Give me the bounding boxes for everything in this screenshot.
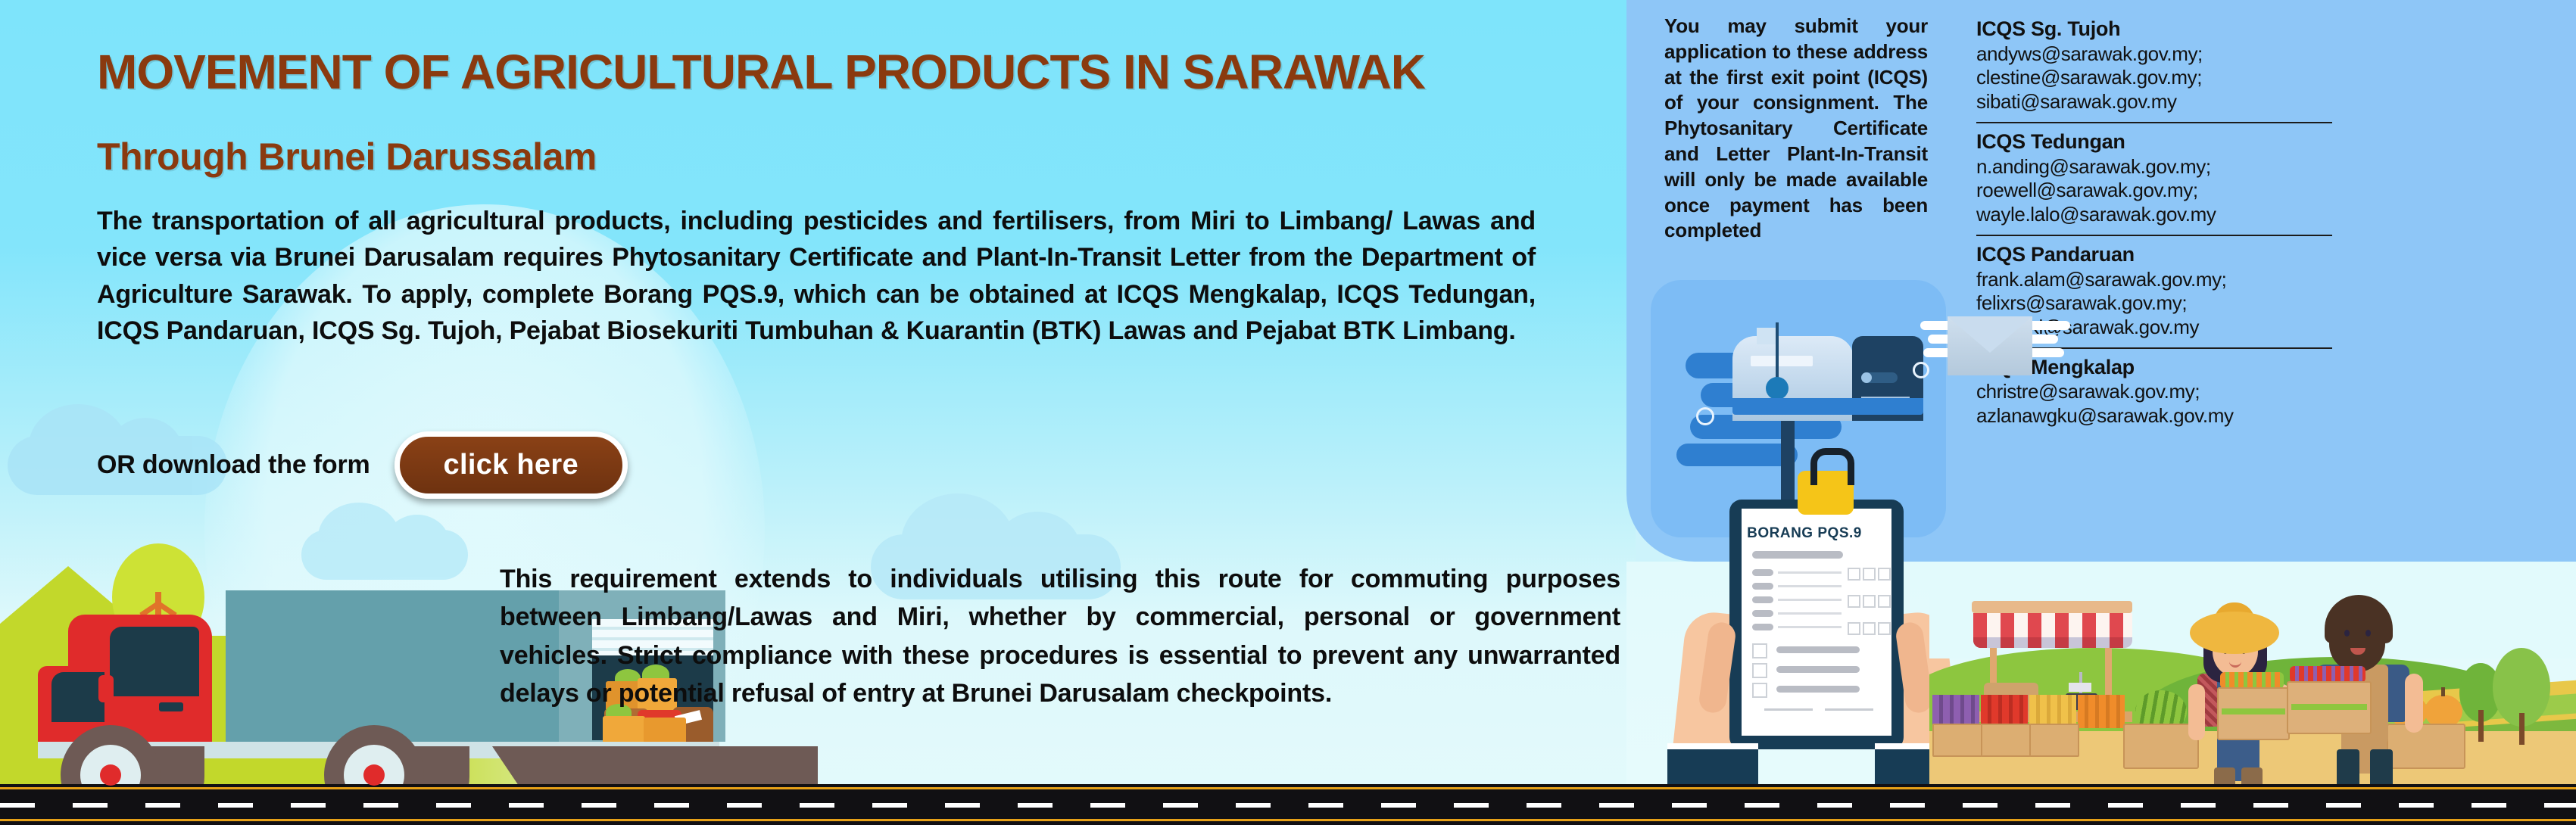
page-subtitle: Through Brunei Darussalam <box>97 135 597 179</box>
contact-email[interactable]: n.anding@sarawak.gov.my; <box>1976 155 2332 179</box>
contact-email[interactable]: roewell@sarawak.gov.my; <box>1976 179 2332 203</box>
form-title: BORANG PQS.9 <box>1729 525 1879 542</box>
contact-office-name: ICQS Sg. Tujoh <box>1976 17 2332 42</box>
road-strip <box>0 784 2576 825</box>
road-dashes <box>0 803 2576 808</box>
lock-icon <box>1798 471 1854 515</box>
download-label: OR download the form <box>97 450 370 480</box>
click-here-button[interactable]: click here <box>395 431 628 499</box>
main-paragraph: The transportation of all agricultural p… <box>97 203 1536 349</box>
clipboard-form: BORANG PQS.9 <box>1729 500 1904 749</box>
contact-office-name: ICQS Pandaruan <box>1976 242 2332 268</box>
contact-email[interactable]: andyws@sarawak.gov.my; <box>1976 42 2332 67</box>
contact-email[interactable]: sibati@sarawak.gov.my <box>1976 90 2332 114</box>
contact-office-name: ICQS Tedungan <box>1976 129 2332 155</box>
submission-instructions: You may submit your application to these… <box>1664 14 1928 244</box>
compliance-paragraph: This requirement extends to individuals … <box>500 560 1620 712</box>
contact-email[interactable]: clestine@sarawak.gov.my; <box>1976 66 2332 90</box>
contact-email[interactable]: wayle.lalo@sarawak.gov.my <box>1976 203 2332 227</box>
contact-block: ICQS Sg. Tujoh andyws@sarawak.gov.my; cl… <box>1976 17 2332 119</box>
poster-root: You may submit your application to these… <box>0 0 2576 825</box>
download-row: OR download the form click here <box>97 431 628 499</box>
farm-market-illustration <box>1929 575 2576 787</box>
cloud-shape <box>301 530 468 580</box>
envelope-icon <box>1948 316 2032 375</box>
page-title: MOVEMENT OF AGRICULTURAL PRODUCTS IN SAR… <box>97 44 1425 100</box>
contact-block: ICQS Tedungan n.anding@sarawak.gov.my; r… <box>1976 122 2332 232</box>
tree-icon <box>2493 648 2550 727</box>
